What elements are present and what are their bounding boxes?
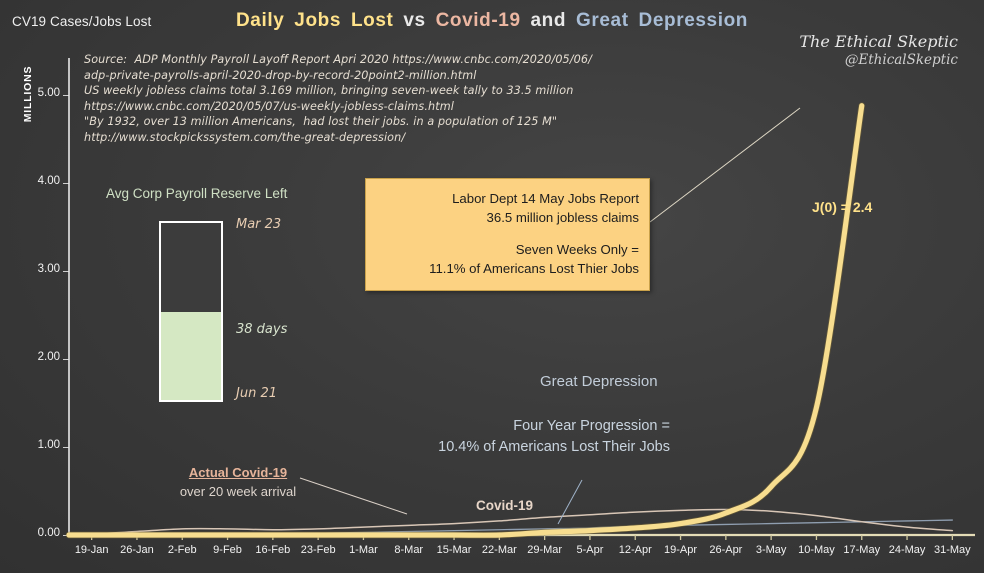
actual-covid-subtitle: over 20 week arrival [178, 482, 298, 501]
actual-covid-note: Actual Covid-19 over 20 week arrival [178, 463, 298, 501]
callout-line-4: 11.1% of Americans Lost Thier Jobs [376, 259, 639, 278]
jobs-report-callout: Labor Dept 14 May Jobs Report 36.5 milli… [365, 178, 650, 291]
callout-line-2: 36.5 million jobless claims [376, 208, 639, 227]
payroll-reserve-fill [161, 312, 221, 400]
reserve-label-duration: 38 days [236, 322, 287, 337]
actual-covid-leader-line [300, 478, 407, 514]
callout-line-1: Labor Dept 14 May Jobs Report [376, 189, 639, 208]
gd-note-line-2: 10.4% of Americans Lost Their Jobs [405, 437, 670, 458]
payroll-reserve-title: Avg Corp Payroll Reserve Left [106, 186, 287, 201]
great-depression-note: Four Year Progression = 10.4% of America… [405, 416, 670, 458]
payroll-reserve-bar [159, 221, 223, 402]
reserve-label-end: Jun 21 [236, 386, 277, 401]
gd-note-line-1: Four Year Progression = [405, 416, 670, 437]
covid-curve-label: Covid-19 [476, 498, 533, 513]
callout-spacer [376, 227, 639, 240]
actual-covid-title: Actual Covid-19 [178, 463, 298, 482]
reserve-label-start: Mar 23 [236, 217, 281, 232]
callout-line-3: Seven Weeks Only = [376, 240, 639, 259]
j0-annotation: J(0) = 2.4 [812, 199, 872, 215]
covid-label-leader-line [558, 480, 582, 524]
great-depression-label: Great Depression [540, 373, 658, 390]
callout-leader-line [650, 108, 800, 222]
